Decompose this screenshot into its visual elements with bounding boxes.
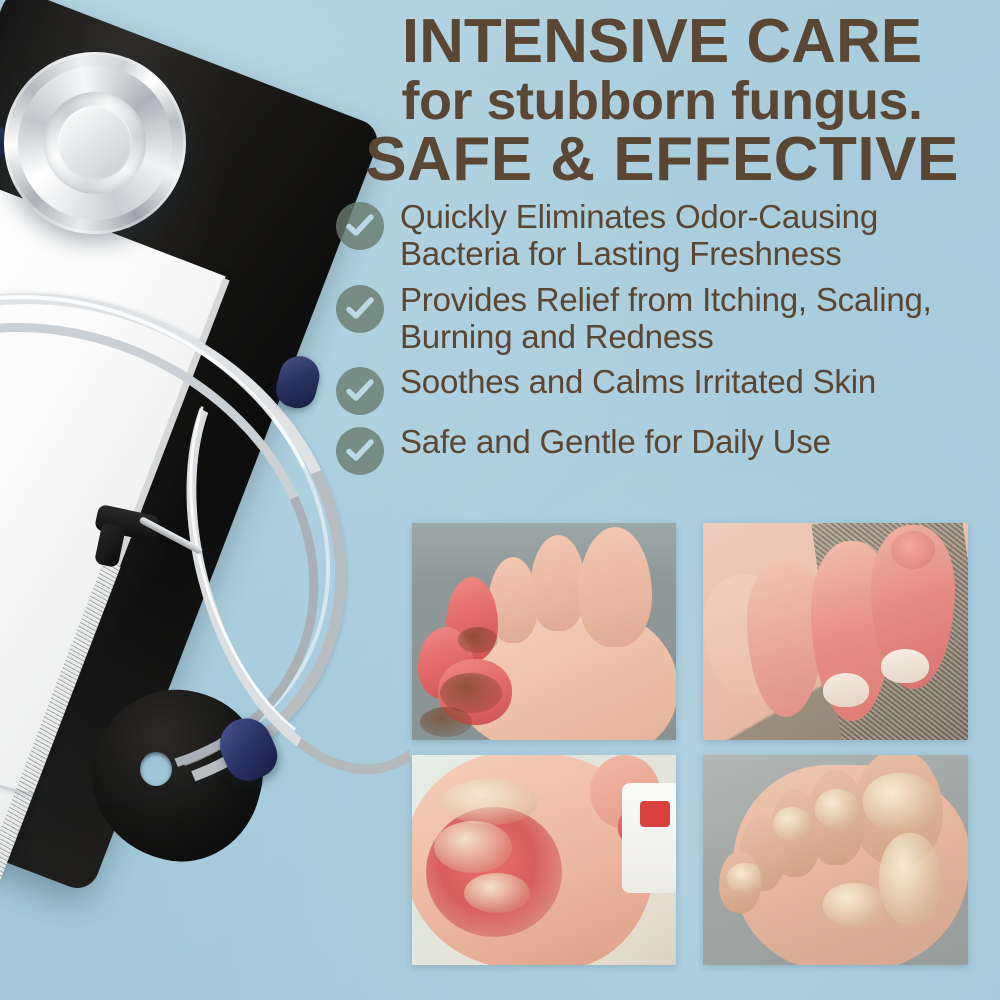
headline-line-3: SAFE & EFFECTIVE <box>336 130 988 191</box>
check-icon <box>336 427 384 475</box>
check-icon <box>336 202 384 250</box>
benefit-label: Provides Relief from Itching, Scaling, B… <box>384 281 1000 356</box>
lesion-crust <box>458 627 498 653</box>
toe-shape <box>530 535 586 631</box>
photo-foot-sole-inflamed-toes <box>412 523 676 740</box>
benefit-item: Provides Relief from Itching, Scaling, B… <box>336 281 1000 356</box>
skin-flaking <box>863 773 937 831</box>
skin-scaling <box>434 821 512 873</box>
benefit-item: Soothes and Calms Irritated Skin <box>336 363 1000 415</box>
skin-flaking <box>879 833 941 925</box>
skin-flaking <box>815 789 859 829</box>
stethoscope-chestpiece-core <box>58 106 132 180</box>
check-icon <box>336 285 384 333</box>
skin-flaking <box>727 863 763 893</box>
photo-heel-scaling-redness <box>412 755 676 965</box>
check-icon <box>336 367 384 415</box>
benefit-label: Quickly Eliminates Odor-Causing Bacteria… <box>384 198 1000 273</box>
background-object <box>622 783 676 893</box>
toe-shape <box>578 527 652 647</box>
headline-line-1: INTENSIVE CARE <box>336 12 988 73</box>
toenail-shape <box>881 649 929 683</box>
benefit-item: Quickly Eliminates Odor-Causing Bacteria… <box>336 198 1000 273</box>
skin-scaling <box>442 779 538 825</box>
benefit-label: Soothes and Calms Irritated Skin <box>384 363 876 400</box>
photo-toes-red-swollen <box>703 523 968 740</box>
photo-foot-dry-flaking-skin <box>703 755 968 965</box>
headline-line-2: for stubborn fungus. <box>336 75 988 128</box>
skin-flaking <box>823 883 885 927</box>
background-object-accent <box>640 801 670 827</box>
benefit-item: Safe and Gentle for Daily Use <box>336 423 1000 475</box>
toenail-shape <box>823 673 869 707</box>
benefits-list: Quickly Eliminates Odor-Causing Bacteria… <box>336 198 1000 483</box>
lesion-shape <box>891 531 935 569</box>
benefit-label: Safe and Gentle for Daily Use <box>384 423 831 460</box>
product-infographic: INTENSIVE CARE for stubborn fungus. SAFE… <box>0 0 1000 1000</box>
skin-scaling <box>464 873 530 913</box>
lesion-crust <box>420 707 472 737</box>
skin-flaking <box>773 807 811 841</box>
page-title: INTENSIVE CARE for stubborn fungus. SAFE… <box>336 12 988 190</box>
clinical-photo-grid <box>412 523 968 965</box>
